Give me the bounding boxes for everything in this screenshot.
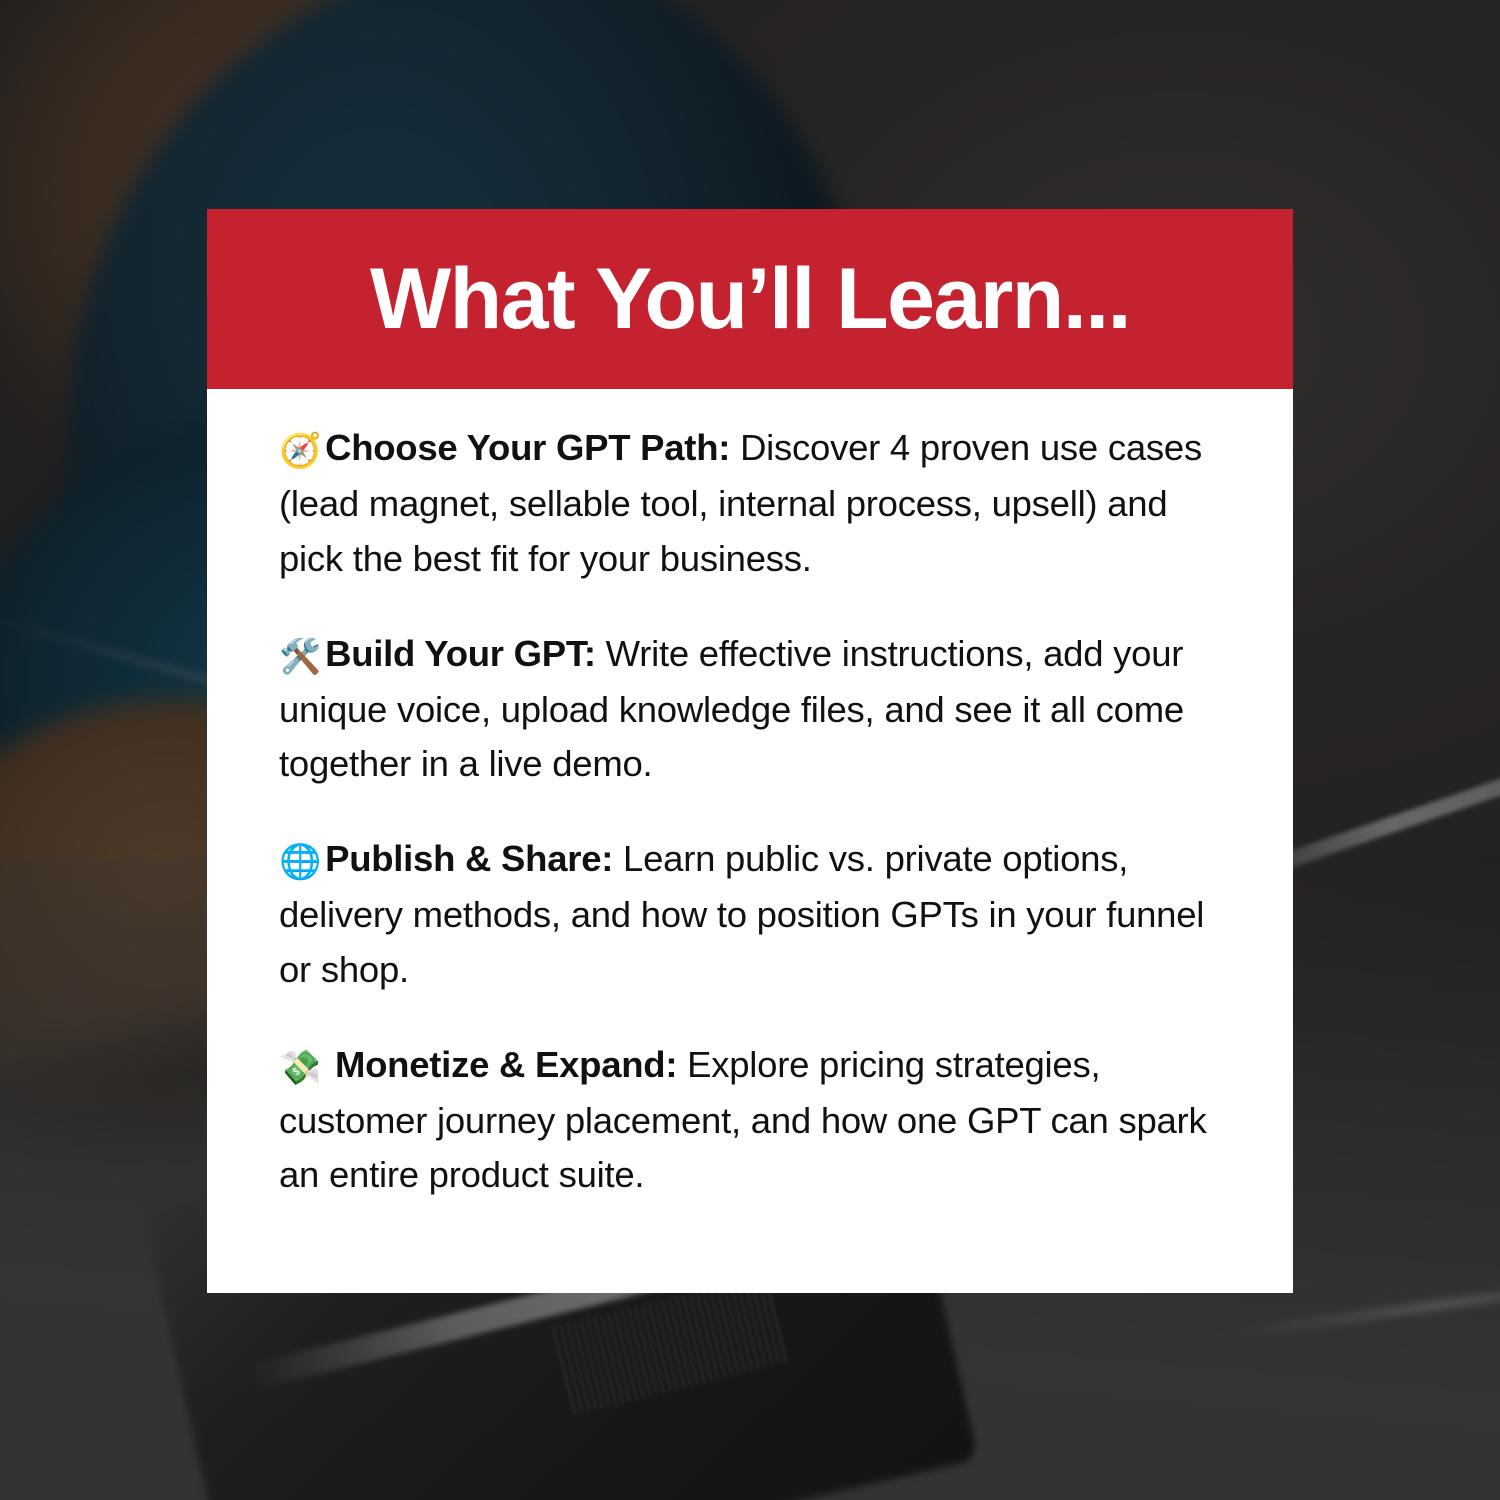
list-item-lead: Monetize & Expand:	[325, 1044, 677, 1085]
card-header-banner: What You’ll Learn...	[207, 209, 1293, 389]
compass-icon: 🧭	[279, 431, 321, 471]
promo-graphic: What You’ll Learn... 🧭Choose Your GPT Pa…	[0, 0, 1500, 1500]
list-item-lead: Build Your GPT:	[325, 633, 596, 674]
content-card: What You’ll Learn... 🧭Choose Your GPT Pa…	[207, 209, 1293, 1293]
list-item: 🛠️Build Your GPT: Write effective instru…	[279, 627, 1217, 793]
hammer-and-wrench-icon: 🛠️	[279, 637, 321, 677]
money-with-wings-icon: 💸	[279, 1048, 321, 1088]
card-body: 🧭Choose Your GPT Path: Discover 4 proven…	[207, 389, 1293, 1243]
globe-icon: 🌐	[279, 842, 321, 882]
list-item: 🌐Publish & Share: Learn public vs. priva…	[279, 832, 1217, 998]
list-item: 💸 Monetize & Expand: Explore pricing str…	[279, 1038, 1217, 1204]
page-title: What You’ll Learn...	[370, 256, 1130, 342]
list-item-lead: Choose Your GPT Path:	[325, 427, 730, 468]
list-item: 🧭Choose Your GPT Path: Discover 4 proven…	[279, 421, 1217, 587]
list-item-lead: Publish & Share:	[325, 838, 613, 879]
